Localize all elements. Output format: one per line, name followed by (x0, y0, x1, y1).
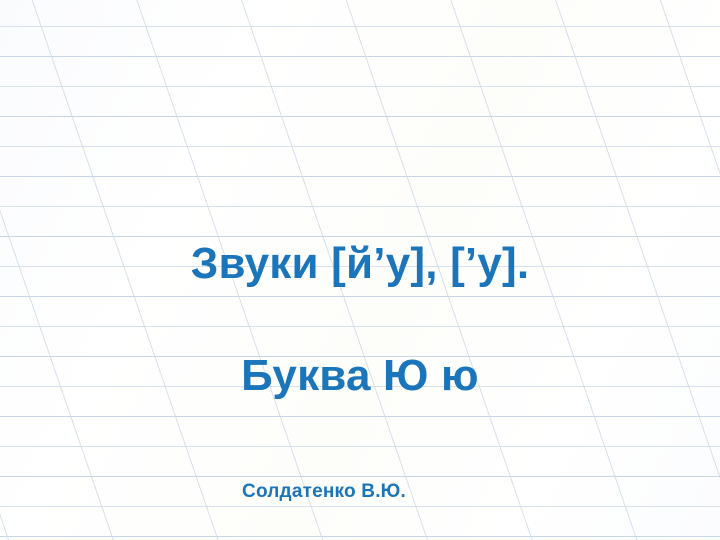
slide-title: Звуки [й’у], [’у]. Буква Ю ю (0, 180, 720, 459)
presentation-slide: Звуки [й’у], [’у]. Буква Ю ю Солдатенко … (0, 0, 720, 540)
slide-title-line-1: Звуки [й’у], [’у]. (0, 236, 720, 292)
slide-author: Солдатенко В.Ю. (0, 480, 720, 505)
slide-title-line-2: Буква Ю ю (0, 348, 720, 404)
slide-content: Звуки [й’у], [’у]. Буква Ю ю Солдатенко … (0, 0, 720, 540)
